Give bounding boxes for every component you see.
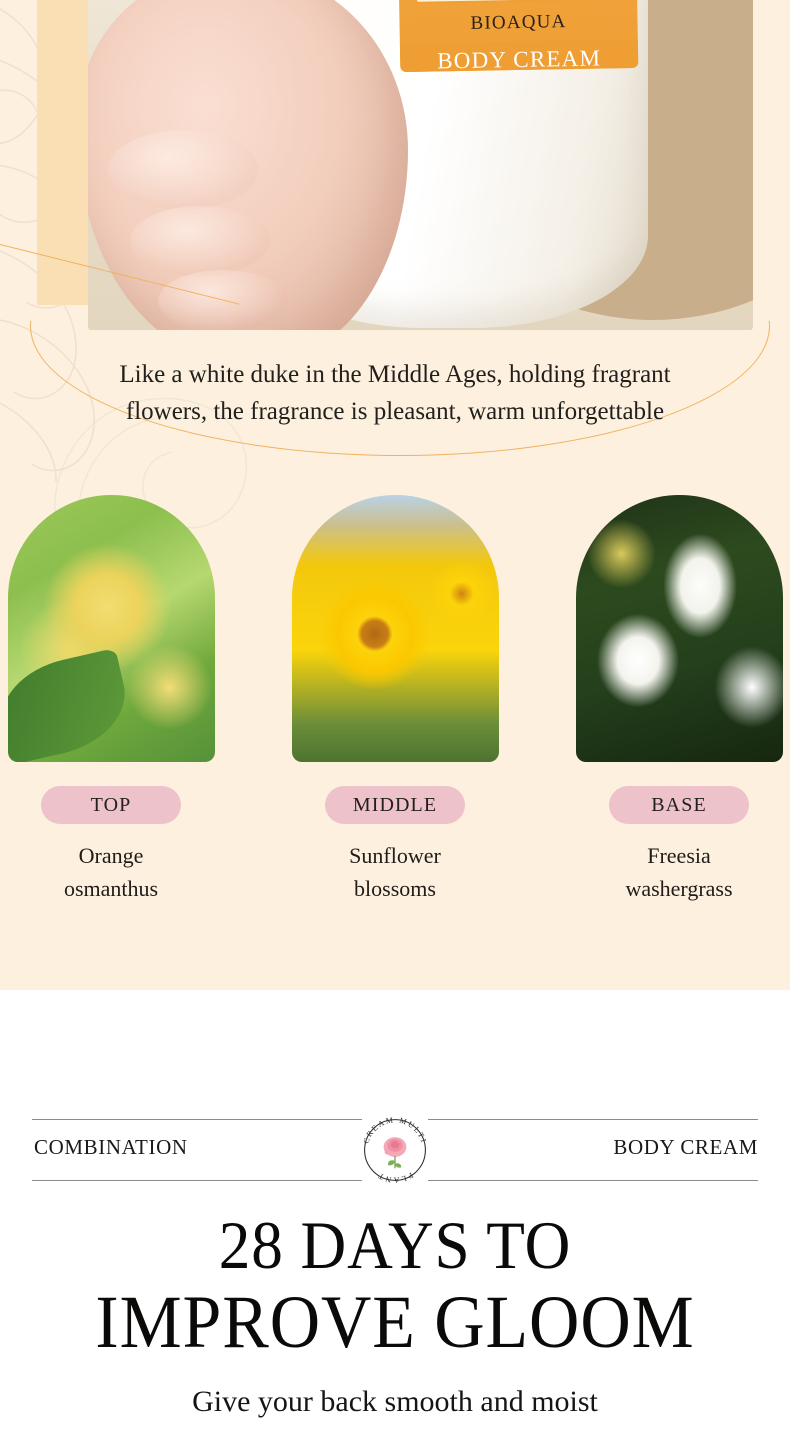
fragrance-note-card: TOP Orange osmanthus xyxy=(8,495,215,905)
osmanthus-flower-photo xyxy=(8,495,215,762)
jar-label: OSMANTHUS CARE xyxy=(396,0,639,72)
note-description: Sunflower blossoms xyxy=(292,839,499,905)
note-badge-base: BASE xyxy=(609,786,749,824)
note-label-line-2: blossoms xyxy=(292,872,499,905)
note-label-line-1: Freesia xyxy=(576,839,783,872)
note-badge-label: TOP xyxy=(91,794,132,817)
headline-line-1: 28 DAYS TO xyxy=(28,1206,763,1284)
product-name-text: BODY CREAM xyxy=(437,46,601,73)
note-description: Freesia washergrass xyxy=(576,839,783,905)
label-osmanthus-banner: OSMANTHUS xyxy=(415,0,622,4)
fragrance-note-card: BASE Freesia washergrass xyxy=(576,495,783,905)
note-label-line-1: Sunflower xyxy=(292,839,499,872)
cream-multi-plant-seal: CREAM MULTI PLANT xyxy=(357,1112,433,1188)
product-photo: Osmanthus Fragrans Flower Extract, Glyce… xyxy=(88,0,753,330)
product-marketing-page: Osmanthus Fragrans Flower Extract, Glyce… xyxy=(0,0,790,1442)
note-badge-middle: MIDDLE xyxy=(325,786,465,824)
hero-tagline: Like a white duke in the Middle Ages, ho… xyxy=(0,356,790,430)
sunflower-field-photo xyxy=(292,495,499,762)
fragrance-note-card: MIDDLE Sunflower blossoms xyxy=(292,495,499,905)
note-description: Orange osmanthus xyxy=(8,839,215,905)
divider-right-label: BODY CREAM xyxy=(613,1135,758,1160)
note-label-line-2: washergrass xyxy=(576,872,783,905)
headline-line-2: IMPROVE GLOOM xyxy=(28,1284,763,1362)
fragrance-notes-row: TOP Orange osmanthus MIDDLE Sunflower bl… xyxy=(0,495,790,905)
hero-section: Osmanthus Fragrans Flower Extract, Glyce… xyxy=(0,0,790,990)
freesia-flower-photo xyxy=(576,495,783,762)
promo-subheadline: Give your back smooth and moist xyxy=(0,1385,790,1419)
note-badge-top: TOP xyxy=(41,786,181,824)
note-badge-label: MIDDLE xyxy=(353,794,437,817)
note-label-line-1: Orange xyxy=(8,839,215,872)
brand-name: BIOAQUA xyxy=(399,10,637,36)
tagline-line-1: Like a white duke in the Middle Ages, ho… xyxy=(0,356,790,393)
note-badge-label: BASE xyxy=(651,794,707,817)
divider-left-label: COMBINATION xyxy=(34,1135,188,1160)
promo-headline: 28 DAYS TO IMPROVE GLOOM xyxy=(28,1206,763,1362)
product-name-bar: BODY CREAM xyxy=(400,40,638,72)
note-label-line-2: osmanthus xyxy=(8,872,215,905)
section-divider: COMBINATION BODY CREAM CREAM MULTI PLANT xyxy=(32,1119,758,1181)
tagline-line-2: flowers, the fragrance is pleasant, warm… xyxy=(0,393,790,430)
